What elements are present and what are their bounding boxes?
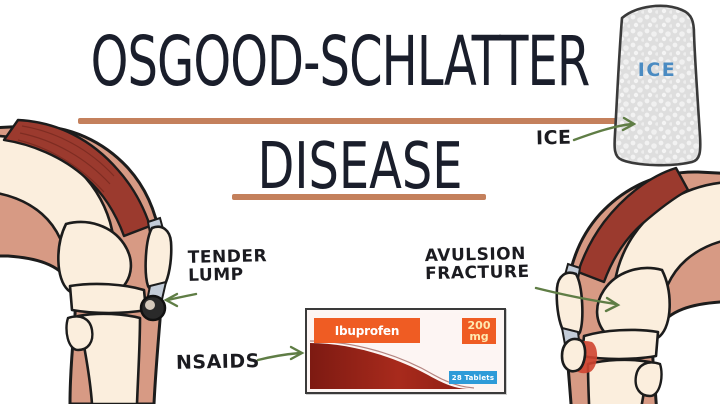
- label-ice: ICE: [536, 128, 572, 149]
- left-femoral-condyle: [58, 222, 131, 299]
- ice-bag-body: [615, 6, 701, 165]
- left-muscle-striations: [18, 126, 114, 192]
- left-fibula-head: [66, 317, 92, 351]
- page-title-line-1: OSGOOD-SCHLATTER: [82, 26, 597, 97]
- right-femur: [613, 182, 720, 314]
- medication-name-banner: Ibuprofen: [314, 318, 420, 343]
- left-femur: [0, 136, 115, 268]
- right-patella: [557, 273, 583, 337]
- ice-arrow-head: [623, 118, 634, 130]
- label-tender-lump: TENDER LUMP: [188, 247, 268, 285]
- medication-tablet-badge: 28 Tablets: [449, 371, 497, 384]
- left-patella: [146, 227, 172, 291]
- left-patellar-tendon: [146, 282, 166, 308]
- right-tibial-plateau: [582, 330, 658, 359]
- avulsion-arrow-head: [606, 298, 618, 311]
- ice-arrow-line: [574, 124, 632, 140]
- tender-lump-highlight: [145, 300, 155, 310]
- medication-dose-badge: 200 mg: [462, 318, 496, 344]
- tender-lump-arrow-head: [166, 294, 177, 306]
- page-title-line-2: DISEASE: [170, 134, 550, 201]
- right-leg-skin: [566, 172, 720, 404]
- left-leg-skin: [0, 126, 162, 404]
- right-quadriceps-tendon: [562, 264, 580, 290]
- left-tibial-plateau: [70, 284, 146, 313]
- medication-tablet-count: 28 Tablets: [452, 374, 494, 382]
- left-quadriceps-tendon: [148, 218, 166, 244]
- right-tibia: [588, 360, 650, 404]
- ice-bag-label: ICE: [638, 59, 677, 81]
- medication-box: Ibuprofen 200 mg 28 Tablets: [305, 308, 506, 394]
- right-patellar-tendon: [562, 328, 580, 350]
- avulsion-arrow-line: [536, 288, 616, 304]
- left-tibia: [78, 314, 140, 404]
- right-quadriceps-muscle: [578, 168, 688, 282]
- label-avulsion-fracture: AVULSION FRACTURE: [425, 245, 530, 284]
- avulsion-fracture-fragment: [562, 339, 585, 371]
- tender-lump-arrow-line: [168, 294, 196, 300]
- label-nsaids: NSAIDS: [176, 351, 260, 373]
- tender-lump-nodule: [141, 296, 165, 320]
- medication-box-face: Ibuprofen 200 mg 28 Tablets: [310, 313, 501, 389]
- illustration-canvas: OSGOOD-SCHLATTER DISEASE: [0, 0, 720, 404]
- nsaids-arrow-line: [258, 353, 300, 360]
- right-femoral-condyle: [597, 268, 670, 345]
- medication-dose-unit: mg: [469, 331, 488, 342]
- right-inflammation: [570, 341, 597, 373]
- title-underline-1: [78, 118, 618, 124]
- left-quadriceps-muscle: [4, 120, 150, 236]
- title-underline-2: [232, 194, 486, 200]
- nsaids-arrow-head: [291, 347, 302, 359]
- left-knee-illustration: [0, 120, 171, 404]
- right-knee-illustration: [557, 168, 720, 404]
- ice-bag: ICE: [615, 6, 701, 165]
- medication-name: Ibuprofen: [335, 324, 399, 338]
- right-fibula-head: [636, 363, 662, 397]
